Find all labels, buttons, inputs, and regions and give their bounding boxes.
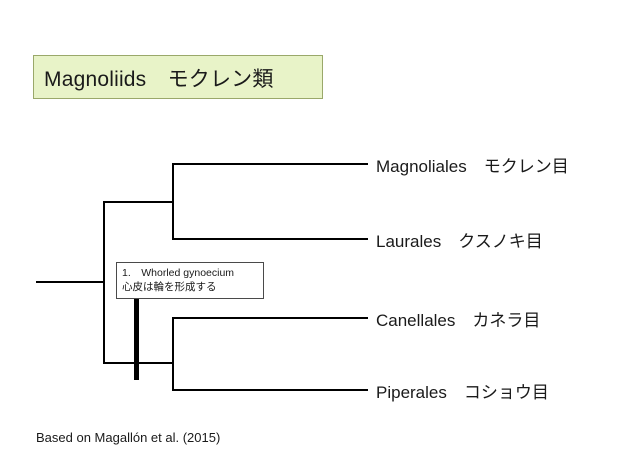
branch-piperales [172, 389, 368, 391]
branch-canellales [172, 317, 368, 319]
branch-laurales [172, 238, 368, 240]
upper-clade-stem [103, 201, 173, 203]
root-node-connector [103, 201, 105, 363]
taxon-label-laurales: Laurales クスノキ目 [376, 227, 543, 252]
title-text: Magnoliids モクレン類 [44, 63, 274, 93]
synapomorphy-line-2: 心皮は輪を形成する [122, 280, 259, 294]
source-credit: Based on Magallón et al. (2015) [36, 430, 220, 445]
upper-clade-connector [172, 163, 174, 239]
taxon-label-magnoliales: Magnoliales モクレン目 [376, 152, 569, 177]
root-branch [36, 281, 104, 283]
branch-magnoliales [172, 163, 368, 165]
slide-canvas: Magnoliids モクレン類 Magnoliales モクレン目 Laura… [0, 0, 630, 473]
taxon-label-piperales: Piperales コショウ目 [376, 378, 549, 403]
title-banner: Magnoliids モクレン類 [33, 55, 323, 99]
lower-clade-connector [172, 317, 174, 390]
taxon-label-canellales: Canellales カネラ目 [376, 306, 540, 331]
synapomorphy-annotation: 1. Whorled gynoecium 心皮は輪を形成する [116, 262, 264, 299]
synapomorphy-line-1: 1. Whorled gynoecium [122, 266, 259, 280]
